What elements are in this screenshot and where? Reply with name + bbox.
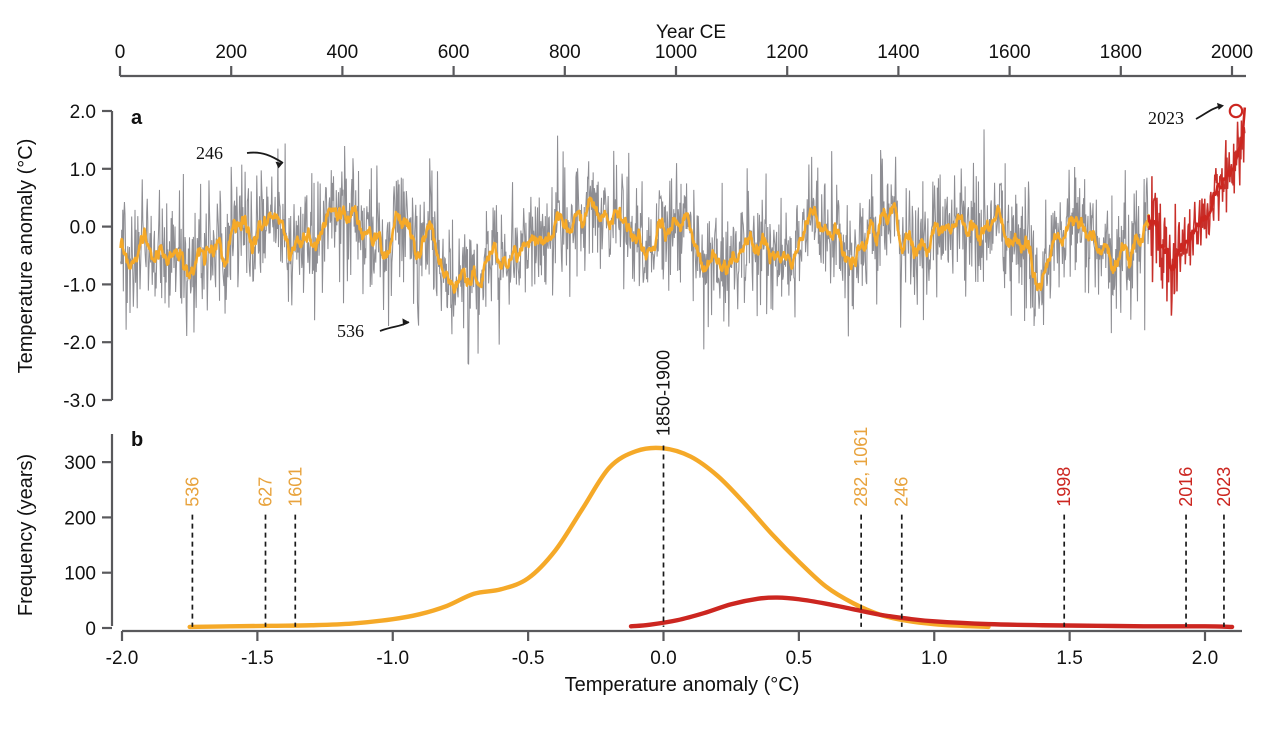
panel-b-marker: 246: [892, 477, 912, 627]
panel-b-ytick-label: 200: [64, 508, 96, 529]
panel-b-marker: 536: [182, 477, 202, 627]
panel-a-annotation-246: 246: [196, 143, 283, 168]
panel-b-ytick-label: 100: [64, 564, 96, 585]
marker-label: 627: [255, 477, 275, 507]
panel-a-xtick-label: 400: [327, 42, 359, 63]
panel-a-xtick-label: 600: [438, 42, 470, 63]
panel-a-xtick-label: 800: [549, 42, 581, 63]
marker-label: 1850-1900: [654, 350, 674, 436]
panel-b-xtick-label: -1.5: [241, 648, 274, 669]
panel-a-y-axis: 2.01.00.0-1.0-2.0-3.0: [63, 102, 112, 412]
marker-label: 1998: [1054, 467, 1074, 507]
panel-b-xtick-label: 0.0: [650, 648, 676, 669]
panel-a-top-axis: 0200400600800100012001400160018002000: [115, 42, 1253, 76]
marker-label: 1601: [285, 467, 305, 507]
marker-label: 246: [892, 477, 912, 507]
panel-a-ytick-label: 2.0: [70, 102, 96, 123]
panel-b-marker: 627: [255, 477, 275, 627]
panel-b-marker: 282, 1061: [851, 427, 871, 627]
panel-b-plot: [190, 448, 1232, 627]
panel-a-ytick-label: 1.0: [70, 160, 96, 181]
panel-b-marker: 2016: [1176, 467, 1196, 627]
panel-b-marker: 1998: [1054, 467, 1074, 627]
series-instrumental-red: [1149, 108, 1245, 316]
annotation-536-label: 536: [337, 321, 364, 341]
series-annual-gray: [121, 121, 1245, 365]
panel-b-xtick-label: 0.5: [786, 648, 812, 669]
panel-b-xtick-label: 1.0: [921, 648, 947, 669]
panel-a-annotation-536: 536: [337, 318, 409, 341]
panel-a-xtick-label: 0: [115, 42, 126, 63]
instrumental-red-annual: [1149, 121, 1245, 316]
panel-b-xtick-label: -2.0: [106, 648, 139, 669]
panel-a-ytick-label: 0.0: [70, 218, 96, 239]
panel-a-xtick-label: 1000: [655, 42, 697, 63]
panel-b-ytick-label: 0: [85, 619, 96, 640]
marker-label: 2023: [1214, 467, 1234, 507]
annotation-2023-label: 2023: [1148, 108, 1184, 128]
panel-b-xtick-label: 1.5: [1056, 648, 1082, 669]
marker-2023-circle: [1230, 105, 1242, 117]
panel-a-xtick-label: 1400: [877, 42, 919, 63]
panel-b-y-axis: 3002001000: [64, 434, 112, 640]
panel-a-xtick-label: 1200: [766, 42, 808, 63]
panel-a-xtick-label: 200: [215, 42, 247, 63]
panel-a-plot: [121, 108, 1245, 365]
panel-b-marker: 2023: [1214, 467, 1234, 627]
panel-a-annotation-2023: 2023: [1148, 103, 1242, 128]
panel-b-xlabel: Temperature anomaly (°C): [565, 674, 800, 696]
figure-root: Year CE 02004006008001000120014001600180…: [0, 0, 1280, 729]
top-axis-title: Year CE: [656, 22, 726, 43]
panel-a-xtick-label: 1600: [988, 42, 1030, 63]
panel-b-ylabel: Frequency (years): [15, 454, 37, 616]
panel-a-xtick-label: 1800: [1100, 42, 1142, 63]
panel-a-xtick-label: 2000: [1211, 42, 1253, 63]
panel-b-xtick-label: 2.0: [1192, 648, 1218, 669]
panel-b-ytick-label: 300: [64, 453, 96, 474]
panel-a-ytick-label: -1.0: [63, 275, 96, 296]
panel-b-xtick-label: -0.5: [512, 648, 545, 669]
density-curve-instrumental: [631, 598, 1232, 627]
panel-a-ylabel: Temperature anomaly (°C): [15, 139, 37, 374]
panel-b-markers: 53662716011850-1900282, 1061246199820162…: [182, 350, 1234, 627]
annual-gray-line: [121, 121, 1245, 365]
panel-b-marker: 1850-1900: [654, 350, 674, 627]
panel-a-ytick-label: -2.0: [63, 333, 96, 354]
panel-a-label: a: [131, 107, 143, 129]
marker-label: 2016: [1176, 467, 1196, 507]
panel-a-ytick-label: -3.0: [63, 391, 96, 412]
panel-b-marker: 1601: [285, 467, 305, 627]
marker-label: 536: [182, 477, 202, 507]
panel-b-label: b: [131, 429, 143, 451]
panel-b-x-axis: -2.0-1.5-1.0-0.50.00.51.01.52.0: [106, 631, 1242, 669]
marker-label: 282, 1061: [851, 427, 871, 507]
panel-b-xtick-label: -1.0: [376, 648, 409, 669]
annotation-246-label: 246: [196, 143, 223, 163]
figure-svg: Year CE 02004006008001000120014001600180…: [0, 0, 1280, 729]
